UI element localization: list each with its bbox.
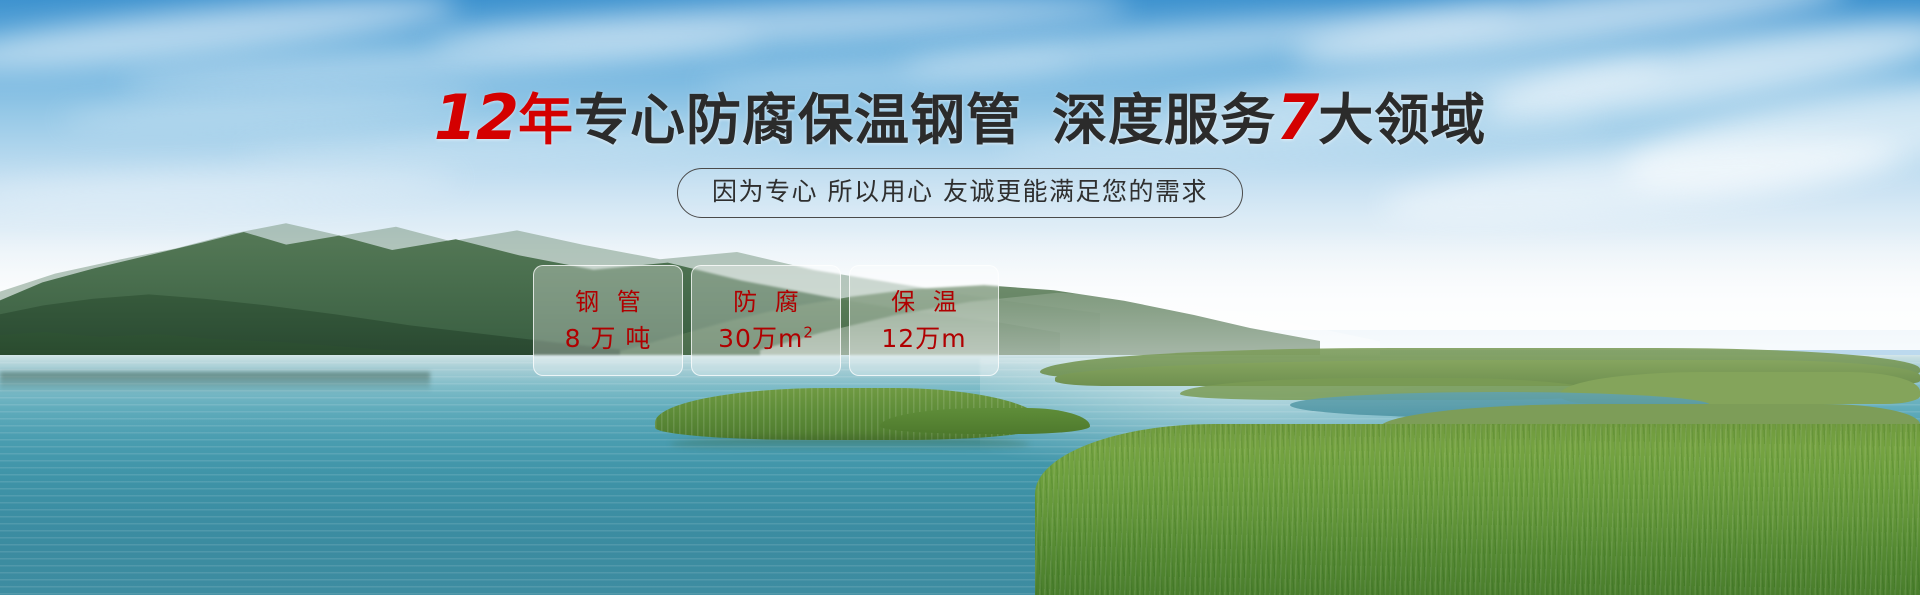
stat-card-value-text: 30万m [718, 324, 803, 353]
headline-fields-number: 7 [1276, 81, 1318, 154]
stat-card-group: 钢 管 8 万 吨 防 腐 30万m2 保 温 12万m [533, 265, 999, 376]
headline-fields-text: 大领域 [1318, 88, 1486, 152]
stat-card-value: 30万m2 [718, 325, 814, 353]
banner-subtitle-wrapper: 因为专心 所以用心 友诚更能满足您的需求 [0, 168, 1920, 218]
stat-card-value-superscript: 2 [803, 323, 814, 341]
headline-service-text: 深度服务 [1052, 88, 1276, 152]
headline-main-text: 专心防腐保温钢管 [574, 88, 1022, 152]
stat-card-value-text: 8 万 吨 [565, 324, 652, 353]
stat-card-label: 防 腐 [728, 289, 804, 315]
treeline-reflection [0, 372, 430, 392]
stat-card-value-text: 12万m [881, 324, 966, 353]
hero-banner: 12年专心防腐保温钢管深度服务7大领域 因为专心 所以用心 友诚更能满足您的需求… [0, 0, 1920, 595]
stat-card-anticorrosion: 防 腐 30万m2 [691, 265, 841, 376]
stat-card-value: 12万m [881, 325, 966, 353]
headline-years-number: 12 [434, 81, 518, 154]
stat-card-steel-pipe: 钢 管 8 万 吨 [533, 265, 683, 376]
grass-island-reflection [670, 436, 1030, 452]
stat-card-insulation: 保 温 12万m [849, 265, 999, 376]
stat-card-label: 钢 管 [570, 289, 646, 315]
stat-card-value: 8 万 吨 [565, 325, 652, 353]
stat-card-label: 保 温 [886, 289, 962, 315]
banner-headline: 12年专心防腐保温钢管深度服务7大领域 [0, 88, 1920, 150]
foreground-grass-texture [1035, 424, 1920, 595]
headline-years-unit: 年 [518, 88, 574, 152]
banner-subtitle: 因为专心 所以用心 友诚更能满足您的需求 [677, 168, 1243, 218]
